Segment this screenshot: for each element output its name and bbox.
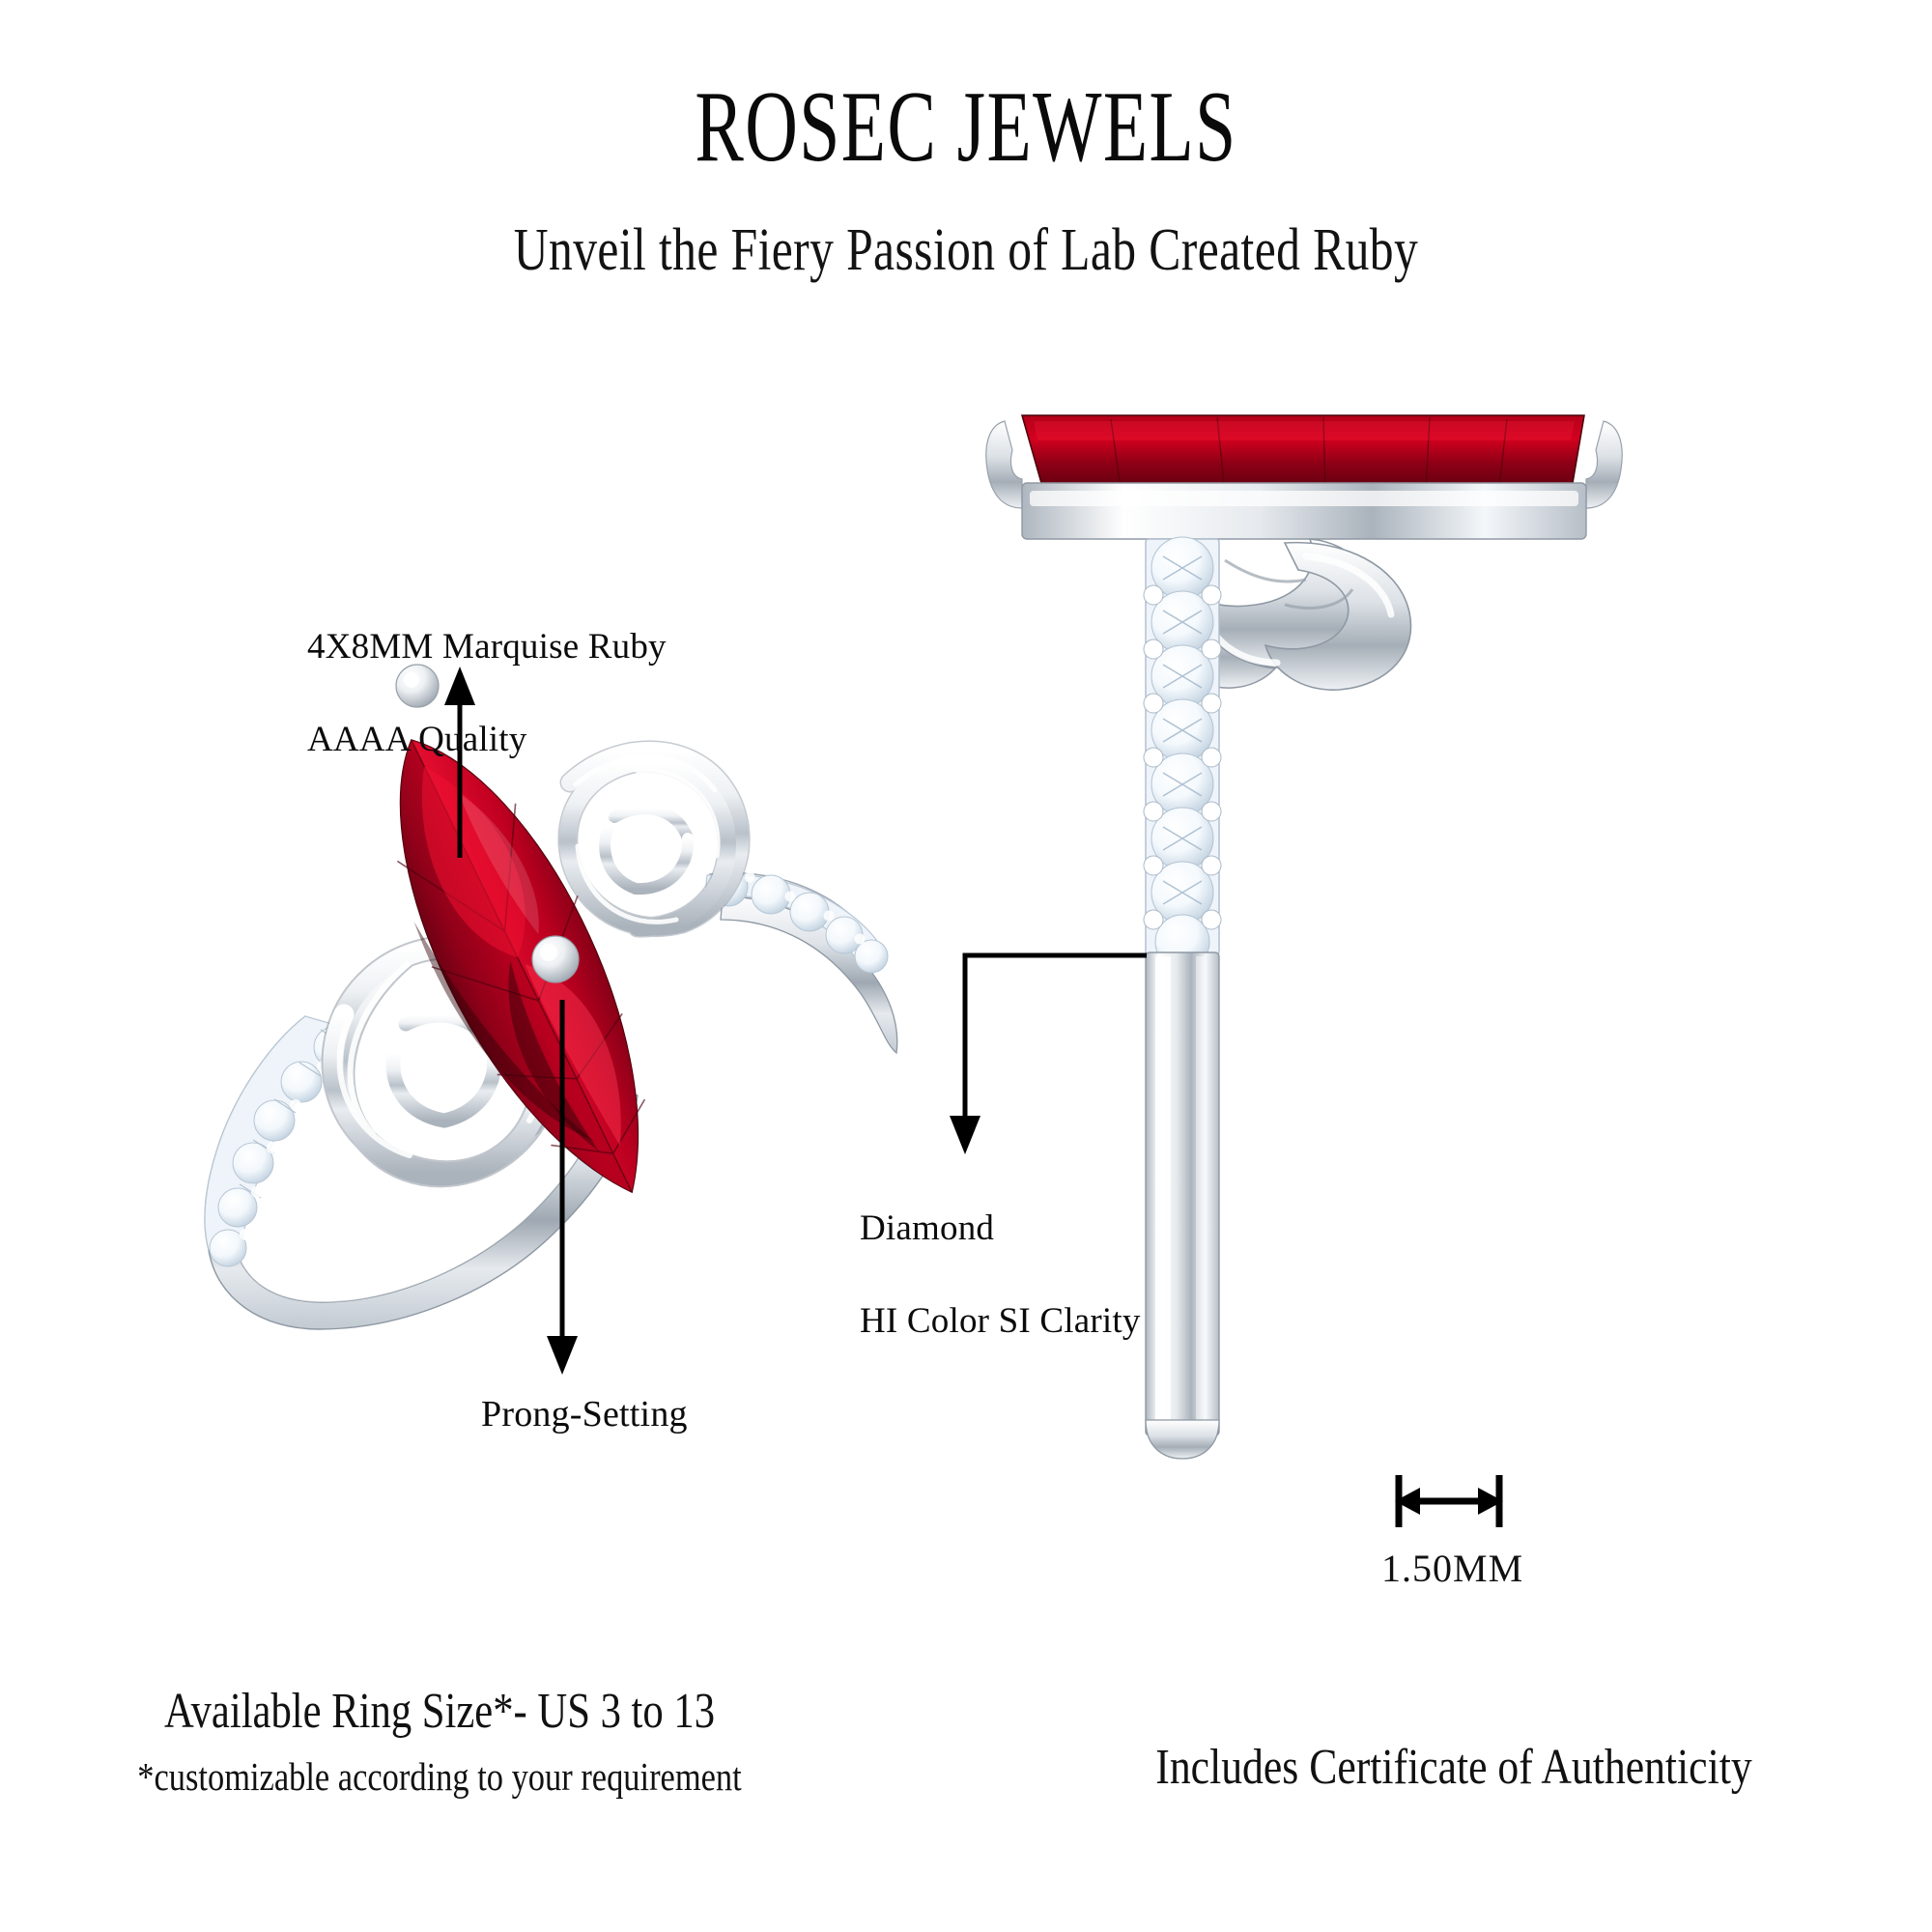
annotation-gemstone: 4X8MM Marquise Ruby AAAA Quality — [307, 578, 667, 810]
ring-size-label: Available Ring Size*- US 3 to 13 — [79, 1683, 800, 1740]
annotation-diamond-line1: Diamond — [860, 1206, 1141, 1252]
diamond-leader-arrow — [952, 952, 1193, 1159]
ring-size-note: *customizable according to your requirem… — [71, 1753, 809, 1800]
marquise-ruby-profile — [1022, 415, 1584, 493]
dimension-arrow — [1391, 1473, 1565, 1531]
setting-rail-highlight — [1030, 491, 1578, 506]
annotation-diamond: Diamond HI Color SI Clarity — [860, 1159, 1141, 1391]
prong-bottom — [532, 936, 579, 982]
prong-leader-arrow — [539, 1000, 597, 1377]
prong-right-profile — [1586, 421, 1622, 508]
annotation-prong-setting: Prong-Setting — [481, 1391, 688, 1438]
annotation-gemstone-line2: AAAA Quality — [307, 717, 667, 763]
certificate-label: Includes Certificate of Authenticity — [1052, 1739, 1856, 1796]
band-width-label: 1.50MM — [1381, 1546, 1523, 1591]
prong-left-profile — [986, 421, 1022, 508]
pave-diamond-shank-profile — [1144, 537, 1221, 969]
annotation-diamond-line2: HI Color SI Clarity — [860, 1298, 1141, 1345]
infographic-canvas: ROSEC JEWELS Unveil the Fiery Passion of… — [0, 0, 1932, 1932]
page-title: ROSEC JEWELS — [270, 75, 1662, 177]
page-tagline: Unveil the Fiery Passion of Lab Created … — [193, 220, 1739, 280]
annotation-gemstone-line1: 4X8MM Marquise Ruby — [307, 624, 667, 670]
prong-bottom-highlight — [540, 944, 557, 961]
